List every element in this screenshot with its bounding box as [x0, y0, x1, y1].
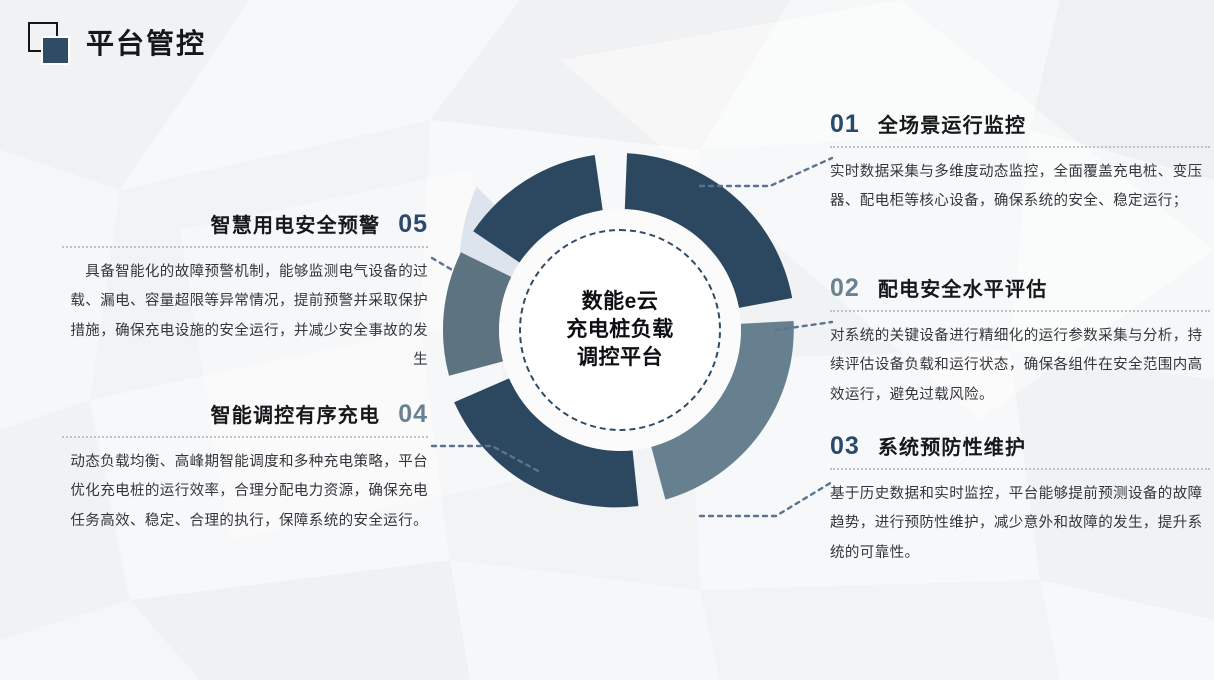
item-01-body: 实时数据采集与多维度动态监控，全面覆盖充电桩、变压器、配电柜等核心设备，确保系统…: [830, 158, 1210, 217]
center-line-3: 调控平台: [577, 344, 663, 372]
item-block-02[interactable]: 02 配电安全水平评估 对系统的关键设备进行精细化的运行参数采集与分析，持续评估…: [830, 276, 1210, 410]
item-05-number: 05: [398, 212, 428, 237]
item-04-divider: [62, 436, 428, 438]
item-05-title: 智慧用电安全预警: [211, 216, 381, 236]
item-block-01[interactable]: 01 全场景运行监控 实时数据采集与多维度动态监控，全面覆盖充电桩、变压器、配电…: [830, 112, 1210, 217]
item-04-heading: 智能调控有序充电 04: [62, 402, 428, 427]
donut-center-label: 数能e云 充电桩负载 调控平台: [519, 229, 721, 431]
donut-chart: 数能e云 充电桩负载 调控平台: [418, 128, 822, 532]
item-01-heading: 01 全场景运行监控: [830, 112, 1210, 137]
item-02-divider: [830, 310, 1210, 312]
item-01-title: 全场景运行监控: [878, 116, 1026, 136]
center-line-2: 充电桩负载: [566, 316, 674, 344]
item-block-03[interactable]: 03 系统预防性维护 基于历史数据和实时监控，平台能够提前预测设备的故障趋势，进…: [830, 434, 1210, 568]
item-03-number: 03: [830, 434, 860, 459]
item-03-body: 基于历史数据和实时监控，平台能够提前预测设备的故障趋势，进行预防性维护，减少意外…: [830, 480, 1210, 568]
item-block-05[interactable]: 智慧用电安全预警 05 具备智能化的故障预警机制，能够监测电气设备的过载、漏电、…: [62, 212, 428, 376]
nested-squares-icon: [28, 22, 70, 66]
header: 平台管控: [28, 22, 206, 66]
item-01-number: 01: [830, 112, 860, 137]
item-03-heading: 03 系统预防性维护: [830, 434, 1210, 459]
item-04-body: 动态负载均衡、高峰期智能调度和多种充电策略，平台优化充电桩的运行效率，合理分配电…: [62, 448, 428, 536]
item-05-body: 具备智能化的故障预警机制，能够监测电气设备的过载、漏电、容量超限等异常情况，提前…: [62, 258, 428, 376]
item-02-heading: 02 配电安全水平评估: [830, 276, 1210, 301]
center-line-1: 数能e云: [582, 288, 659, 316]
item-05-divider: [62, 246, 428, 248]
item-02-number: 02: [830, 276, 860, 301]
slide-root: 平台管控: [0, 0, 1214, 680]
item-02-title: 配电安全水平评估: [878, 280, 1048, 300]
item-02-body: 对系统的关键设备进行精细化的运行参数采集与分析，持续评估设备负载和运行状态，确保…: [830, 322, 1210, 410]
item-04-title: 智能调控有序充电: [211, 406, 381, 426]
item-03-title: 系统预防性维护: [878, 438, 1026, 458]
page-title: 平台管控: [86, 30, 206, 58]
item-block-04[interactable]: 智能调控有序充电 04 动态负载均衡、高峰期智能调度和多种充电策略，平台优化充电…: [62, 402, 428, 536]
item-01-divider: [830, 146, 1210, 148]
logo-filled-square: [41, 36, 70, 65]
item-03-divider: [830, 468, 1210, 470]
item-04-number: 04: [398, 402, 428, 427]
item-05-heading: 智慧用电安全预警 05: [62, 212, 428, 237]
